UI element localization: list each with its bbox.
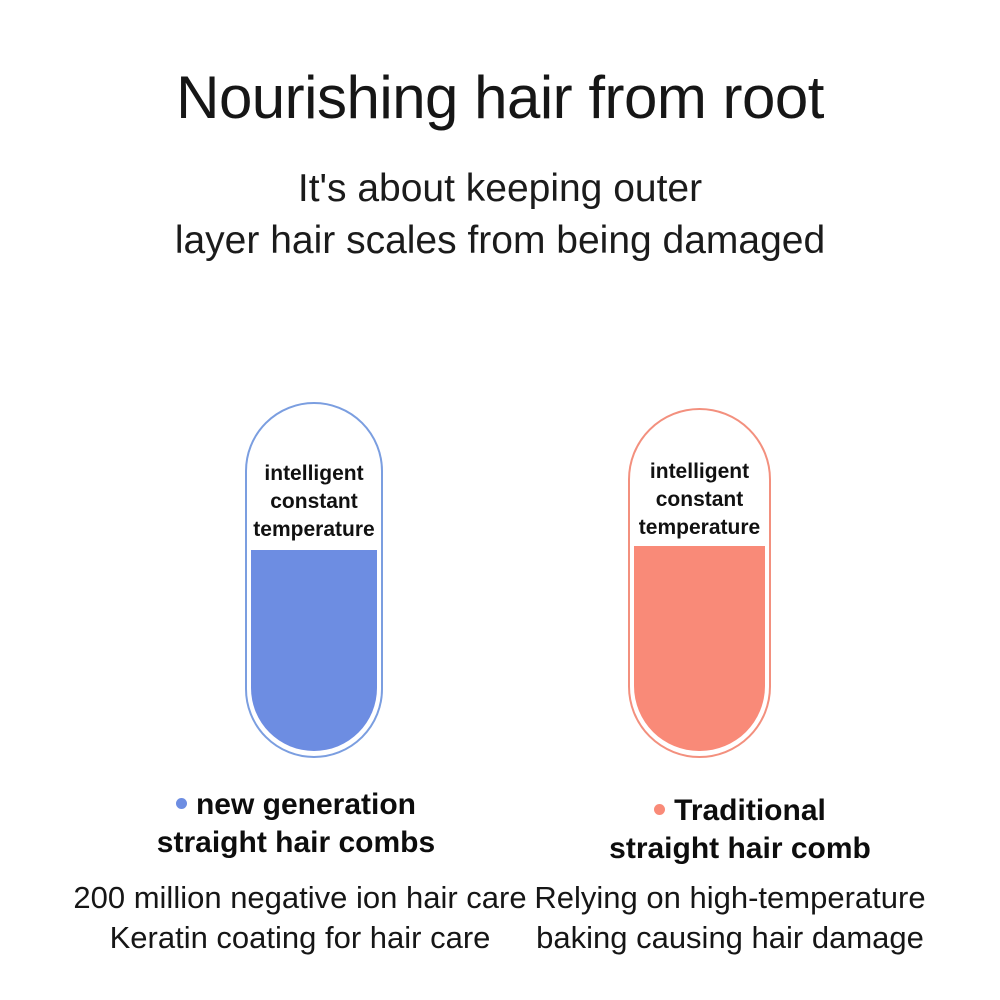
description-new-generation: 200 million negative ion hair care Kerat…	[70, 878, 530, 958]
capsule-label-new-generation: intelligent constant temperature	[245, 460, 383, 544]
capsule-label-traditional: intelligent constant temperature	[628, 458, 771, 542]
description-line-2: Keratin coating for hair care	[70, 918, 530, 958]
capsule-label-line-2: constant	[628, 486, 771, 514]
capsule-label-line-1: intelligent	[245, 460, 383, 488]
legend-label-line-1: Traditional	[674, 794, 826, 827]
legend-label-line-1: new generation	[196, 788, 416, 821]
capsule-new-generation: intelligent constant temperature	[245, 402, 383, 758]
description-line-2: baking causing hair damage	[520, 918, 940, 958]
capsule-fill-orange	[634, 546, 765, 751]
legend-new-generation: new generation straight hair combs	[86, 786, 506, 862]
legend-label-line-2: straight hair combs	[86, 824, 506, 862]
capsule-label-line-3: temperature	[245, 516, 383, 544]
legend-label-line-2: straight hair comb	[540, 830, 940, 868]
capsule-fill-blue	[251, 550, 377, 751]
description-traditional: Relying on high-temperature baking causi…	[520, 878, 940, 958]
bullet-dot-icon	[654, 804, 665, 815]
bullet-dot-icon	[176, 798, 187, 809]
description-line-1: 200 million negative ion hair care	[70, 878, 530, 918]
capsule-label-line-1: intelligent	[628, 458, 771, 486]
legend-line-1-wrap: new generation	[86, 786, 506, 824]
legend-traditional: Traditional straight hair comb	[540, 792, 940, 868]
capsule-traditional: intelligent constant temperature	[628, 408, 771, 758]
capsule-label-line-2: constant	[245, 488, 383, 516]
legend-line-1-wrap: Traditional	[540, 792, 940, 830]
description-line-1: Relying on high-temperature	[520, 878, 940, 918]
capsule-label-line-3: temperature	[628, 514, 771, 542]
